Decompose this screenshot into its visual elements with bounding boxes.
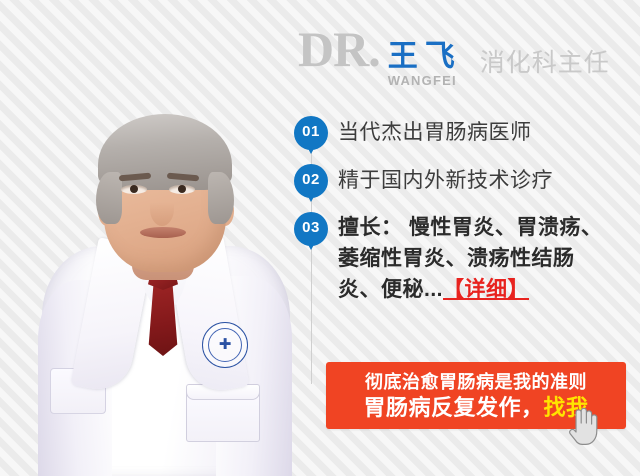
detail-link[interactable]: 【详细】: [443, 278, 529, 301]
medical-cross-icon: ✚: [217, 337, 233, 353]
doctor-profile-banner: ✚ DR. 王飞 WANGFEI 消化科主任: [0, 0, 640, 476]
pin-marker-icon: 02: [294, 164, 328, 198]
list-item: 03 擅长： 慢性胃炎、胃溃疡、 萎缩性胃炎、溃疡性结肠 炎、便秘...【详细】: [294, 212, 634, 305]
cta-line-two-prefix: 胃肠病反复发作，: [363, 395, 543, 420]
doctor-name-logo: DR. 王飞 WANGFEI 消化科主任: [298, 26, 610, 88]
nose: [150, 192, 174, 226]
credential-text: 当代杰出胃肠病医师: [338, 116, 532, 150]
credentials-list: 01 当代杰出胃肠病医师 02 精于国内外新技术诊疗 03 擅长： 慢性胃炎、胃…: [294, 116, 634, 319]
hair-side-left: [96, 172, 122, 224]
list-item: 02 精于国内外新技术诊疗: [294, 164, 634, 198]
mouth: [140, 227, 186, 238]
pin-number-label: 02: [294, 164, 328, 196]
list-item: 01 当代杰出胃肠病医师: [294, 116, 634, 150]
hospital-emblem-badge-icon: ✚: [202, 322, 248, 368]
doctor-name-chinese: 王飞: [388, 42, 462, 72]
pin-marker-icon: 03: [294, 212, 328, 246]
pupil-left: [130, 185, 138, 193]
doctor-name-pinyin: WANGFEI: [388, 74, 457, 88]
pin-number-label: 03: [294, 212, 328, 244]
hand-cursor-icon: [565, 404, 599, 446]
dr-wordmark: DR. 王飞 WANGFEI: [298, 24, 462, 88]
dr-prefix-text: DR.: [298, 24, 380, 74]
cta-line-two: 胃肠病反复发作，找我: [363, 394, 588, 422]
credential-text: 精于国内外新技术诊疗: [338, 164, 553, 198]
pin-marker-icon: 01: [294, 116, 328, 150]
pupil-right: [178, 185, 186, 193]
credential-text: 擅长： 慢性胃炎、胃溃疡、 萎缩性胃炎、溃疡性结肠 炎、便秘...【详细】: [338, 212, 602, 305]
doctor-department-title: 消化科主任: [480, 48, 610, 78]
doctor-name-block: 王飞 WANGFEI: [388, 42, 462, 88]
pin-number-label: 01: [294, 116, 328, 148]
doctor-portrait-photo: ✚: [36, 56, 292, 476]
cta-line-one: 彻底治愈胃肠病是我的准则: [365, 370, 587, 394]
